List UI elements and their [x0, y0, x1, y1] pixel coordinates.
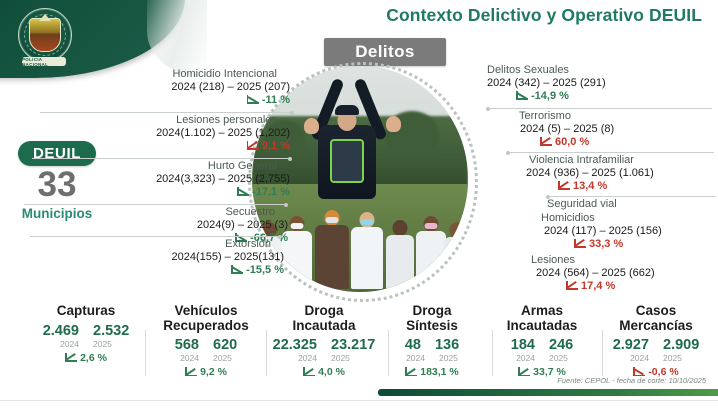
officer-figure	[318, 125, 376, 199]
child-figure	[351, 225, 383, 287]
stat-pct: 9,2 %	[150, 366, 262, 378]
crime-block-seguridad-vial-homicidios: Homicidios 2024 (117) – 2025 (156) 33,3 …	[528, 212, 718, 250]
crime-pct: 13,4 %	[516, 180, 718, 192]
divider	[145, 330, 146, 376]
stat-value-2025: 620	[213, 337, 237, 353]
stat-droga-incautada: Droga Incautada 22.32523.217 20242025 4,…	[262, 304, 386, 378]
crime-name: Hurto General	[18, 160, 290, 172]
stat-title: Droga	[262, 304, 386, 319]
operational-stats-row: Capturas 2.4692.532 20242025 2,6 % Vehíc…	[0, 304, 718, 382]
crime-name: Lesiones personales	[20, 114, 290, 126]
trend-up-icon	[540, 137, 552, 146]
trend-up-icon	[303, 367, 315, 376]
stat-value-2024: 184	[511, 337, 535, 353]
trend-up-icon	[566, 281, 578, 290]
divider	[508, 152, 714, 153]
stat-title: Casos	[598, 304, 714, 319]
stat-value-2024: 22.325	[273, 337, 317, 353]
crime-block-homicidio-intencional: Homicidio Intencional 2024 (218) – 2025 …	[28, 68, 290, 106]
divider	[40, 112, 292, 113]
stat-title: Vehículos	[150, 304, 262, 319]
crime-name: Secuestro	[40, 206, 288, 218]
crime-name: Violencia Intrafamiliar	[516, 154, 718, 166]
stat-value-2025: 23.217	[331, 337, 375, 353]
crime-block-violencia-intrafamiliar: Violencia Intrafamiliar 2024 (936) – 202…	[516, 154, 718, 192]
crime-group-seguridad-vial: Seguridad vial	[534, 198, 718, 210]
crime-group-name: Seguridad vial	[534, 198, 718, 210]
footer-green-bar	[378, 389, 718, 396]
crime-name: Homicidio Intencional	[28, 68, 290, 80]
stat-year-a: 2024	[630, 353, 649, 363]
stat-year-b: 2025	[213, 353, 232, 363]
stat-value-2025: 246	[549, 337, 573, 353]
stat-title-2: Incautadas	[486, 319, 598, 334]
crime-pct: 17,4 %	[518, 280, 718, 292]
crest-caption: POLICIA NACIONAL	[22, 57, 66, 66]
stat-title-2: Recuperados	[150, 319, 262, 334]
stat-title-2: Incautada	[262, 319, 386, 334]
page-bottom-edge	[0, 400, 718, 408]
crime-block-terrorismo: Terrorismo 2024 (5) – 2025 (8) 60,0 %	[506, 110, 718, 148]
crime-pct: 9,1 %	[20, 140, 290, 152]
stat-title: Armas	[486, 304, 598, 319]
crime-pct: -17,1 %	[18, 186, 290, 198]
trend-up-icon	[558, 181, 570, 190]
stat-year-b: 2025	[93, 339, 112, 349]
stat-year-b: 2025	[439, 353, 458, 363]
stat-year-a: 2024	[298, 353, 317, 363]
crime-values: 2024 (564) – 2025 (662)	[518, 267, 718, 279]
stat-vehiculos-recuperados: Vehículos Recuperados 568620 20242025 9,…	[150, 304, 262, 378]
slide-canvas: POLICIA NACIONAL Contexto Delictivo y Op…	[0, 0, 718, 408]
crime-pct: -15,5 %	[36, 264, 284, 276]
stat-year-a: 2024	[180, 353, 199, 363]
stat-armas-incautadas: Armas Incautadas 184246 20242025 33,7 %	[486, 304, 598, 378]
crime-values: 2024 (342) – 2025 (291)	[474, 77, 714, 89]
crime-block-seguridad-vial-lesiones: Lesiones 2024 (564) – 2025 (662) 17,4 %	[518, 254, 718, 292]
crime-pct: -11 %	[28, 94, 290, 106]
trend-up-icon	[185, 367, 197, 376]
stat-pct: 2,6 %	[30, 352, 142, 364]
trend-up-icon	[65, 353, 77, 362]
child-figure	[416, 229, 446, 287]
crime-name: Delitos Sexuales	[474, 64, 714, 76]
crime-values: 2024 (117) – 2025 (156)	[528, 225, 718, 237]
stat-year-a: 2024	[516, 353, 535, 363]
divider	[30, 236, 280, 237]
stat-title: Capturas	[30, 304, 142, 319]
crime-name: Homicidios	[528, 212, 718, 224]
trend-down-icon	[247, 95, 259, 104]
trend-down-icon	[516, 91, 528, 100]
stat-value-2025: 2.909	[663, 337, 699, 353]
stat-droga-sintesis: Droga Síntesis 48136 20242025 183,1 %	[376, 304, 488, 378]
stat-value-2025: 2.532	[93, 323, 129, 339]
crime-values: 2024 (218) – 2025 (207)	[28, 81, 290, 93]
stat-title-2: Mercancías	[598, 319, 714, 334]
stat-year-a: 2024	[60, 339, 79, 349]
stat-year-b: 2025	[331, 353, 350, 363]
crime-values: 2024(1.102) – 2025 (1,202)	[20, 127, 290, 139]
crime-values: 2024 (936) – 2025 (1.061)	[516, 167, 718, 179]
policia-nacional-crest-icon	[18, 8, 72, 62]
stat-title: Droga	[376, 304, 488, 319]
crime-name: Extorsión	[36, 238, 284, 250]
stat-value-2024: 568	[175, 337, 199, 353]
crime-pct: 33,3 %	[528, 238, 718, 250]
trend-down-icon	[237, 187, 249, 196]
crime-block-lesiones-personales: Lesiones personales 2024(1.102) – 2025 (…	[20, 114, 290, 152]
trend-up-icon	[518, 367, 530, 376]
stat-value-2024: 2.469	[43, 323, 79, 339]
crime-values: 2024(3,323) – 2025 (2,755)	[18, 173, 290, 185]
stat-year-b: 2025	[663, 353, 682, 363]
trend-down-icon	[633, 367, 645, 376]
crime-pct: 60,0 %	[506, 136, 718, 148]
stat-capturas: Capturas 2.4692.532 20242025 2,6 %	[30, 304, 142, 364]
child-figure	[444, 235, 468, 287]
crime-name: Lesiones	[518, 254, 718, 266]
stat-title-2: Síntesis	[376, 319, 488, 334]
crime-values: 2024 (5) – 2025 (8)	[506, 123, 718, 135]
crime-values: 2024(9) – 2025 (3)	[40, 219, 288, 231]
divider	[488, 108, 712, 109]
trend-up-icon	[247, 141, 259, 150]
stat-value-2024: 2.927	[613, 337, 649, 353]
crime-values: 2024(155) – 2025(131)	[36, 251, 284, 263]
stat-year-b: 2025	[549, 353, 568, 363]
crime-block-extorsion: Extorsión 2024(155) – 2025(131) -15,5 %	[36, 238, 284, 276]
child-figure	[315, 223, 349, 287]
source-note: Fuente: CEPOL - fecha de corte: 10/10/20…	[557, 376, 706, 385]
stat-year-a: 2024	[406, 353, 425, 363]
page-title: Contexto Delictivo y Operativo DEUIL	[386, 5, 702, 26]
divider	[24, 204, 286, 205]
divider	[32, 158, 290, 159]
crime-pct: -14,9 %	[474, 90, 714, 102]
stat-pct: 4,0 %	[262, 366, 386, 378]
divider	[548, 196, 716, 197]
stat-value-2025: 136	[435, 337, 459, 353]
child-figure	[386, 233, 414, 287]
trend-up-icon	[405, 367, 417, 376]
crime-name: Terrorismo	[506, 110, 718, 122]
crime-block-delitos-sexuales: Delitos Sexuales 2024 (342) – 2025 (291)…	[474, 64, 714, 102]
stat-casos-mercancias: Casos Mercancías 2.9272.909 20242025 -0,…	[598, 304, 714, 378]
trend-up-icon	[574, 239, 586, 248]
crime-block-hurto-general: Hurto General 2024(3,323) – 2025 (2,755)…	[18, 160, 290, 198]
stat-pct: 183,1 %	[376, 366, 488, 378]
stat-value-2024: 48	[405, 337, 421, 353]
delitos-section-badge: Delitos	[324, 38, 446, 66]
trend-down-icon	[231, 265, 243, 274]
